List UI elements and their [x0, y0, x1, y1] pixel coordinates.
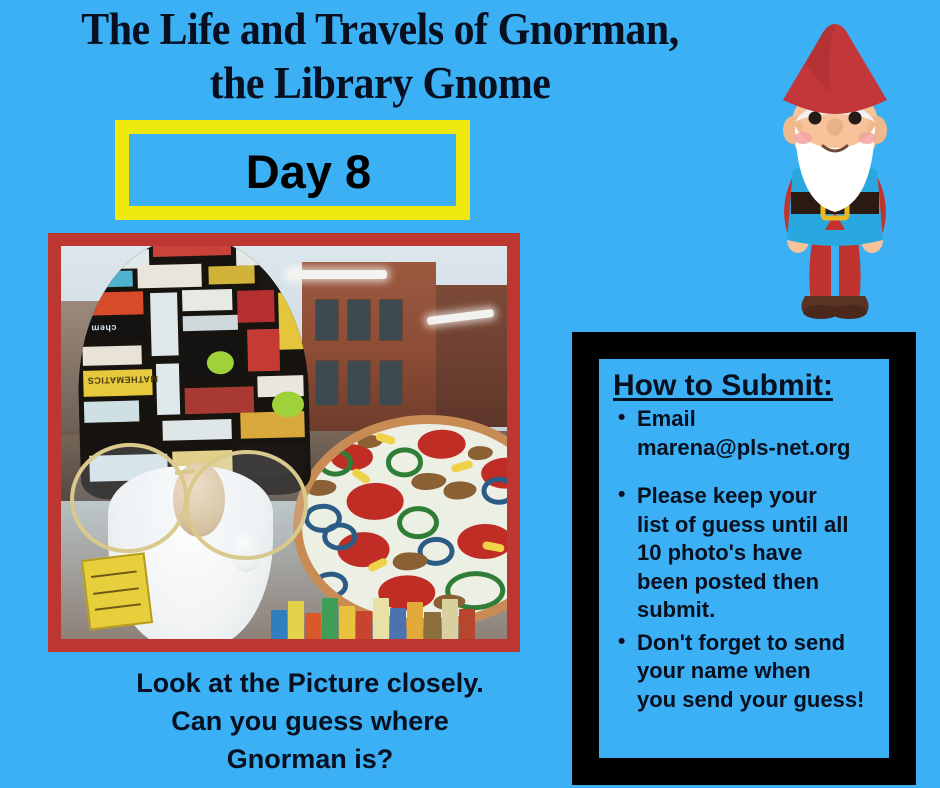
caption-line-3: Gnorman is? [40, 740, 580, 778]
title-line-2: the Library Gnome [27, 56, 734, 110]
day-badge-inner: Day 8 [129, 134, 456, 206]
title-line-1: The Life and Travels of Gnorman, [27, 2, 734, 56]
list-item-line: you send your guess! [637, 686, 881, 715]
list-item-line: Email [637, 405, 881, 434]
caption-line-1: Look at the Picture closely. [40, 664, 580, 702]
list-item-line: submit. [637, 596, 881, 625]
how-to-submit-box: How to Submit: Email marena@pls-net.org … [572, 332, 916, 785]
caption-line-2: Can you guess where [40, 702, 580, 740]
building-main [302, 262, 436, 431]
list-item: Email marena@pls-net.org [637, 405, 881, 462]
how-to-submit-inner: How to Submit: Email marena@pls-net.org … [599, 359, 889, 758]
day-badge: Day 8 [115, 120, 470, 220]
list-item-line: list of guess until all [637, 511, 881, 540]
how-to-submit-title: How to Submit: [613, 369, 881, 403]
gnome-figurine: chem MATHEMATICS design [65, 246, 315, 639]
list-item-line: Please keep your [637, 482, 881, 511]
list-item: Please keep your list of guess until all… [637, 482, 881, 625]
gnome-photo: chem MATHEMATICS design [61, 246, 507, 639]
page-title: The Life and Travels of Gnorman, the Lib… [27, 2, 734, 110]
poster-canvas: The Life and Travels of Gnorman, the Lib… [0, 0, 940, 788]
day-badge-label: Day 8 [246, 144, 371, 199]
gnome-mascot-icon [735, 18, 935, 328]
hat-patch-text-chem: chem [91, 323, 117, 334]
hat-patch-text-mathematics: MATHEMATICS [87, 374, 158, 386]
list-item-line: been posted then [637, 568, 881, 597]
list-item-line: your name when [637, 657, 881, 686]
list-item: Don't forget to send your name when you … [637, 629, 881, 715]
miniature-book [81, 553, 153, 631]
how-to-submit-list: Email marena@pls-net.org Please keep you… [607, 405, 881, 714]
list-item-line: 10 photo's have [637, 539, 881, 568]
list-item-line: Don't forget to send [637, 629, 881, 658]
building-right [436, 285, 507, 426]
photo-caption: Look at the Picture closely. Can you gue… [40, 664, 580, 778]
list-item-line: marena@pls-net.org [637, 434, 881, 463]
photo-frame: chem MATHEMATICS design [48, 233, 520, 652]
